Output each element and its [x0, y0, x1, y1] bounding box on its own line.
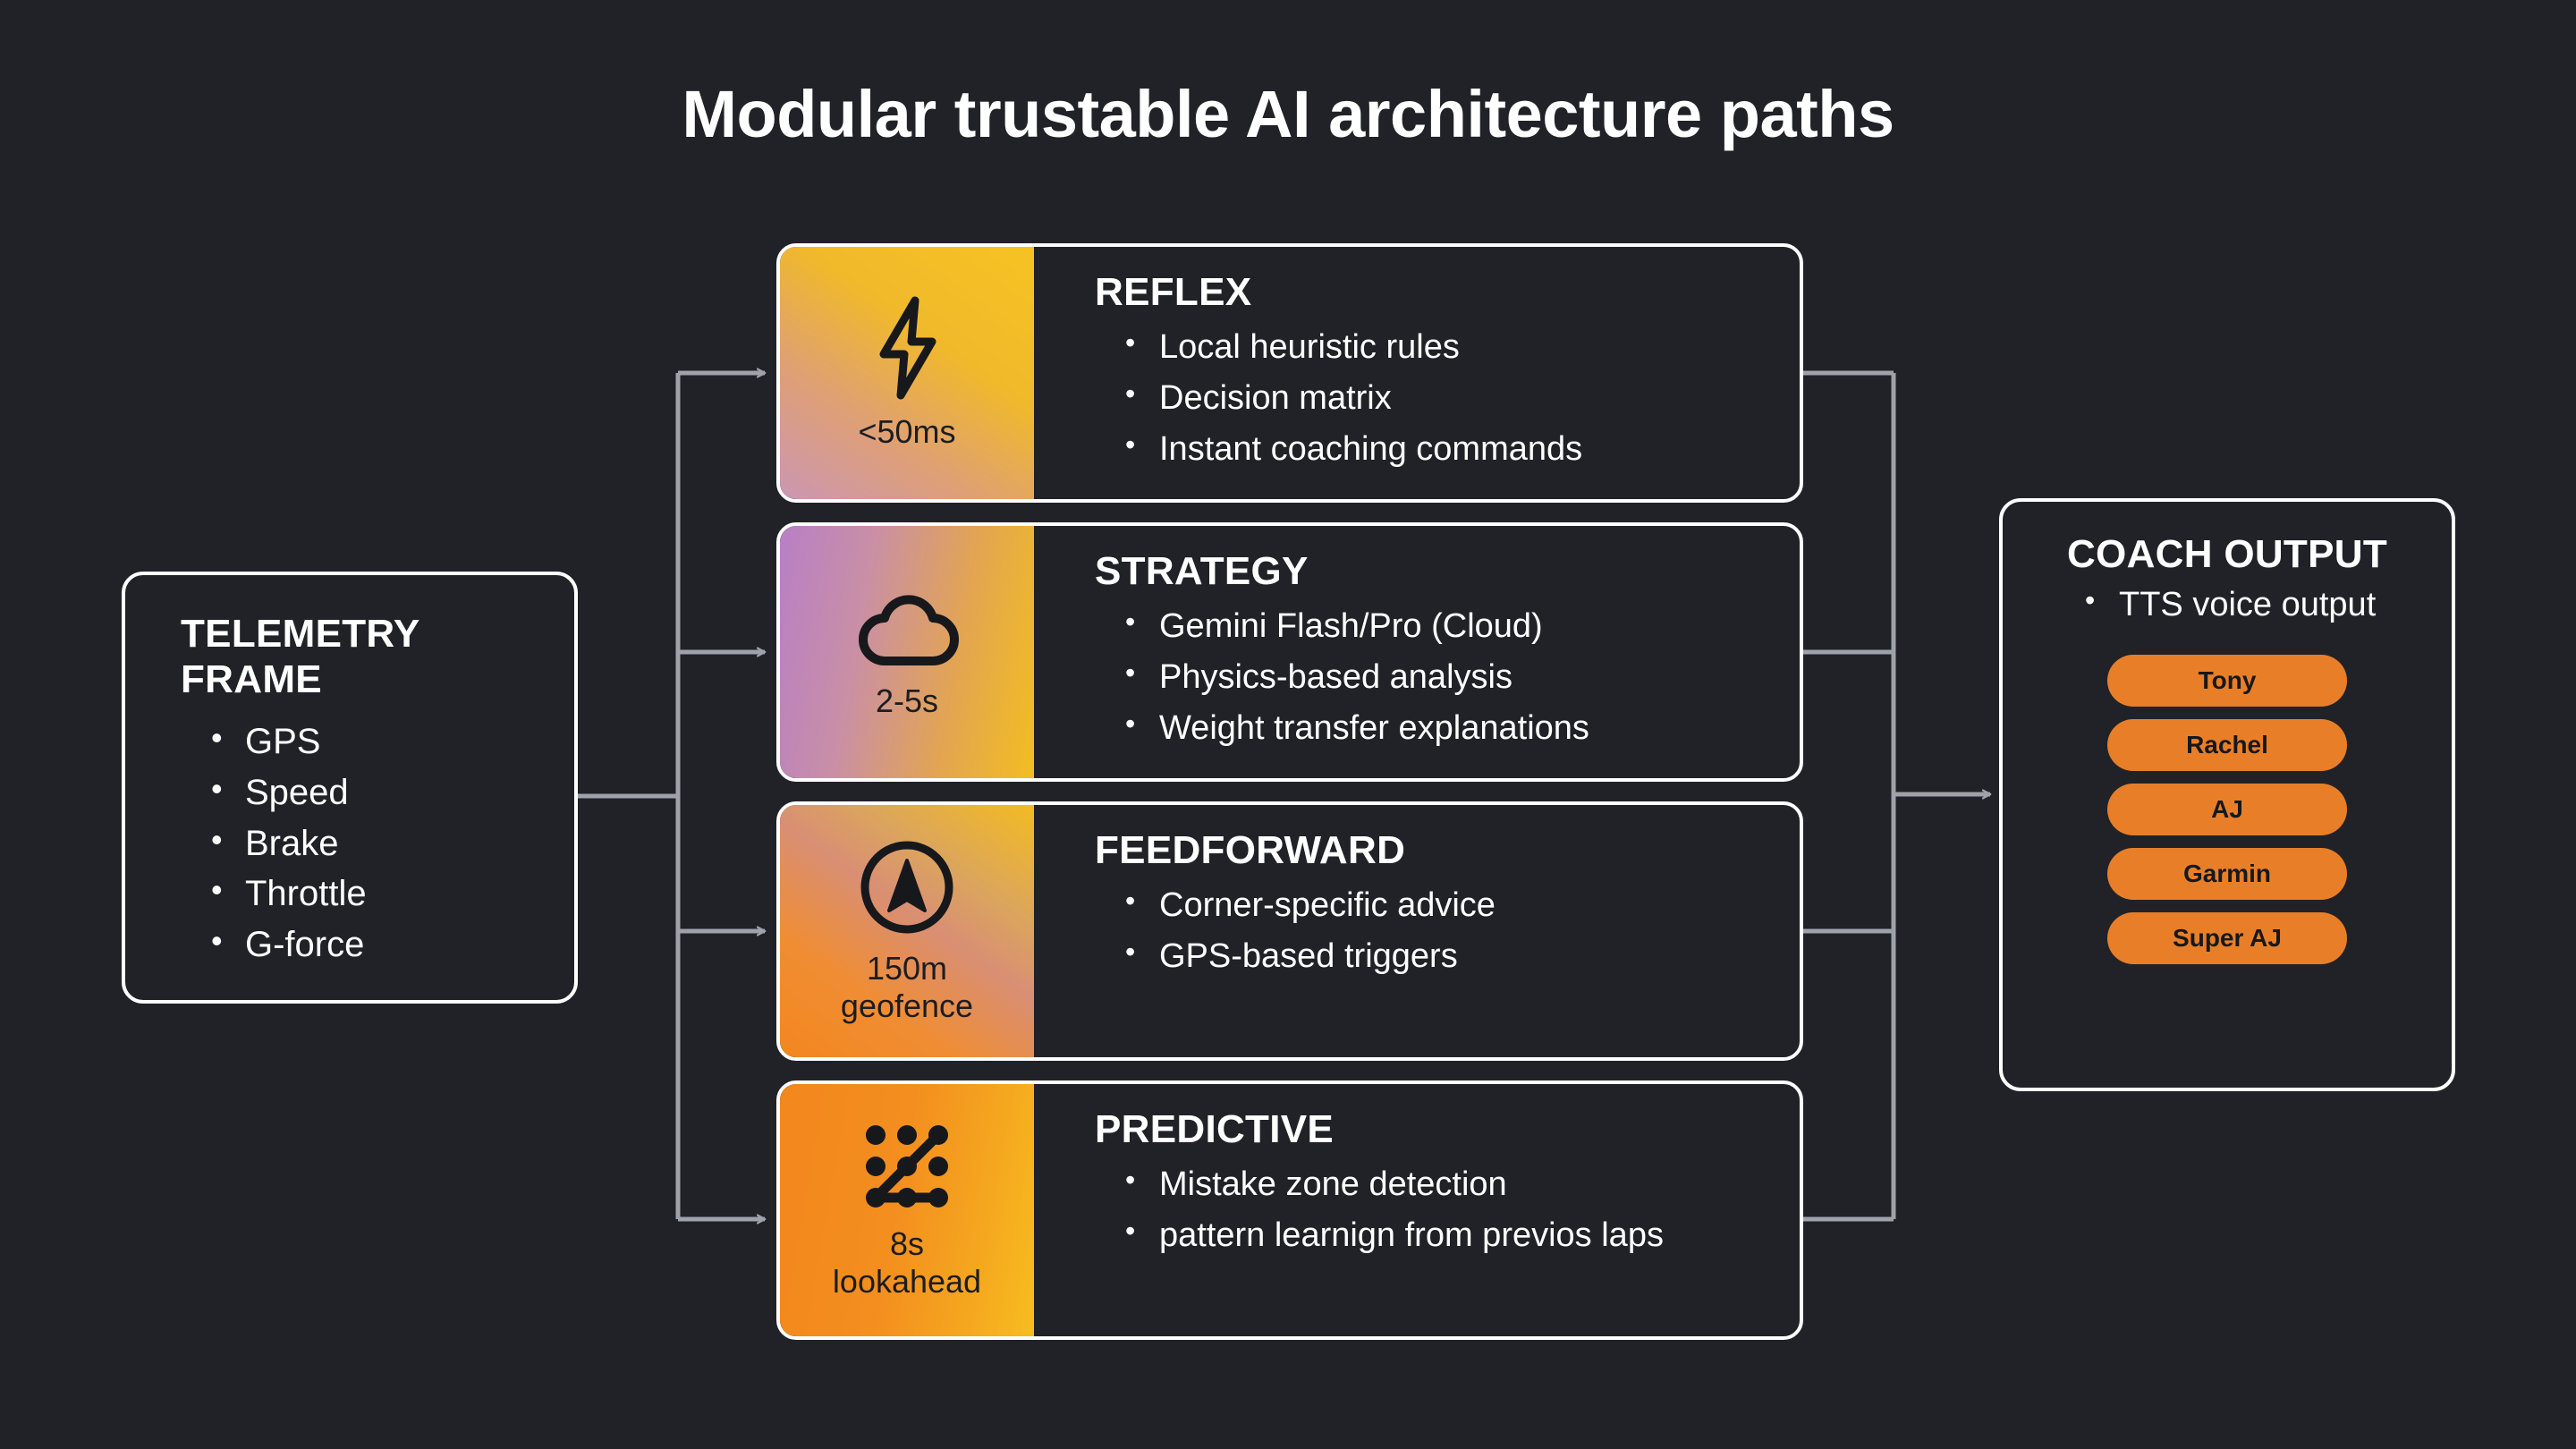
list-item: GPS-based triggers: [1125, 931, 1800, 982]
list-item: GPS: [211, 716, 574, 767]
voice-pill-rachel[interactable]: Rachel: [2107, 719, 2347, 771]
voice-pill-tony[interactable]: Tony: [2107, 655, 2347, 707]
feedforward-title: FEEDFORWARD: [1095, 828, 1800, 873]
list-item: pattern learnign from previos laps: [1125, 1210, 1800, 1261]
navigation-arrow-icon: [857, 837, 957, 937]
strategy-latency-label: 2-5s: [876, 682, 938, 720]
coach-output-box: COACH OUTPUT TTS voice output Tony Rache…: [1999, 498, 2455, 1091]
predictive-item-list: Mistake zone detection pattern learnign …: [1095, 1159, 1800, 1261]
scatter-trend-icon: [860, 1120, 953, 1213]
strategy-icon-panel: 2-5s: [780, 526, 1034, 778]
telemetry-heading: TELEMETRY FRAME: [125, 611, 574, 702]
predictive-body: PREDICTIVE Mistake zone detection patter…: [1034, 1084, 1800, 1336]
reflex-icon-panel: <50ms: [780, 247, 1034, 499]
list-item: Gemini Flash/Pro (Cloud): [1125, 601, 1800, 652]
voice-pill-aj[interactable]: AJ: [2107, 784, 2347, 835]
coach-output-item-list: TTS voice output: [2003, 586, 2452, 624]
stage-card-strategy[interactable]: 2-5s STRATEGY Gemini Flash/Pro (Cloud) P…: [776, 522, 1803, 782]
reflex-body: REFLEX Local heuristic rules Decision ma…: [1034, 247, 1800, 499]
list-item: Corner-specific advice: [1125, 880, 1800, 931]
page-title: Modular trustable AI architecture paths: [0, 76, 2576, 152]
telemetry-item-list: GPS Speed Brake Throttle G-force: [125, 716, 574, 970]
coach-output-title: COACH OUTPUT: [2003, 532, 2452, 577]
list-item: Mistake zone detection: [1125, 1159, 1800, 1210]
list-item: TTS voice output: [2085, 586, 2452, 624]
reflex-title: REFLEX: [1095, 270, 1800, 315]
strategy-title: STRATEGY: [1095, 549, 1800, 594]
lightning-bolt-icon: [864, 295, 950, 401]
list-item: Speed: [211, 767, 574, 818]
list-item: Local heuristic rules: [1125, 322, 1800, 373]
feedforward-item-list: Corner-specific advice GPS-based trigger…: [1095, 880, 1800, 982]
list-item: Decision matrix: [1125, 373, 1800, 424]
stage-card-feedforward[interactable]: 150m geofence FEEDFORWARD Corner-specifi…: [776, 801, 1803, 1061]
list-item: Brake: [211, 818, 574, 869]
list-item: G-force: [211, 919, 574, 970]
predictive-latency-label: 8s lookahead: [833, 1225, 981, 1301]
predictive-title: PREDICTIVE: [1095, 1107, 1800, 1152]
predictive-icon-panel: 8s lookahead: [780, 1084, 1034, 1336]
reflex-item-list: Local heuristic rules Decision matrix In…: [1095, 322, 1800, 475]
telemetry-heading-line-1: TELEMETRY: [181, 611, 574, 657]
diagram-canvas: Modular trustable AI architecture paths: [0, 0, 2576, 1449]
strategy-body: STRATEGY Gemini Flash/Pro (Cloud) Physic…: [1034, 526, 1800, 778]
stage-card-reflex[interactable]: <50ms REFLEX Local heuristic rules Decis…: [776, 243, 1803, 503]
reflex-latency-label: <50ms: [858, 413, 955, 451]
feedforward-latency-label: 150m geofence: [841, 950, 973, 1026]
voice-pill-garmin[interactable]: Garmin: [2107, 848, 2347, 900]
list-item: Weight transfer explanations: [1125, 703, 1800, 754]
voice-pill-group: Tony Rachel AJ Garmin Super AJ: [2003, 655, 2452, 964]
feedforward-icon-panel: 150m geofence: [780, 805, 1034, 1057]
stage-card-predictive[interactable]: 8s lookahead PREDICTIVE Mistake zone det…: [776, 1080, 1803, 1340]
feedforward-body: FEEDFORWARD Corner-specific advice GPS-b…: [1034, 805, 1800, 1057]
telemetry-frame-box: TELEMETRY FRAME GPS Speed Brake Throttle…: [122, 572, 578, 1004]
list-item: Throttle: [211, 869, 574, 919]
strategy-item-list: Gemini Flash/Pro (Cloud) Physics-based a…: [1095, 601, 1800, 754]
cloud-icon: [852, 584, 962, 670]
telemetry-heading-line-2: FRAME: [181, 657, 574, 702]
voice-pill-super-aj[interactable]: Super AJ: [2107, 912, 2347, 964]
list-item: Instant coaching commands: [1125, 424, 1800, 475]
list-item: Physics-based analysis: [1125, 652, 1800, 703]
